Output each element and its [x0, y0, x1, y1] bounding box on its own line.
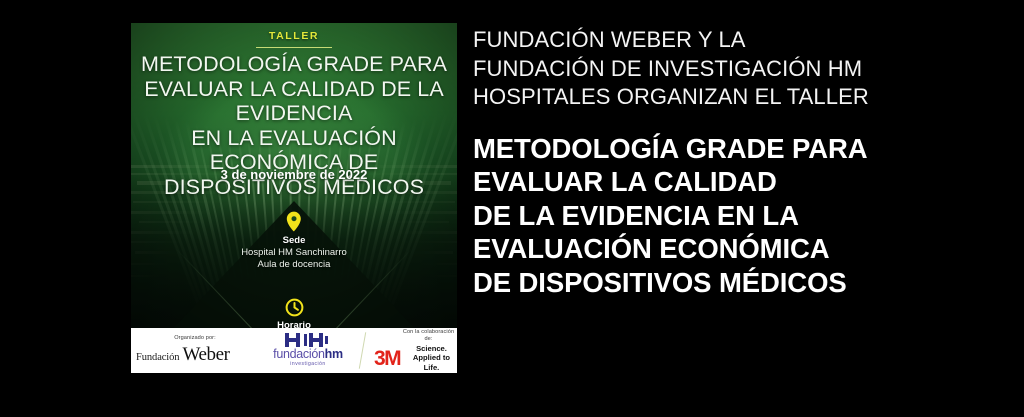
- collaborator-logo-group: Con la colaboración de: 3M Science. Appl…: [362, 328, 457, 373]
- 3m-logo: 3M Science. Applied to Life.: [374, 344, 457, 373]
- fundacion-hm-logo: fundaciónhm investigación: [254, 328, 362, 373]
- 3m-tagline-line-2: Applied to Life.: [406, 353, 457, 372]
- event-poster-image: TALLER METODOLOGÍA GRADE PARA EVALUAR LA…: [131, 23, 457, 373]
- poster-kicker-rule: [256, 47, 332, 49]
- hm-monogram-icon: [285, 333, 331, 347]
- article-text-column: FUNDACIÓN WEBER Y LA FUNDACIÓN DE INVEST…: [473, 26, 1003, 299]
- 3m-tagline-line-1: Science.: [406, 344, 457, 354]
- organizer-caption: Organizado por:: [136, 335, 254, 342]
- weber-prefix-text: Fundación: [136, 352, 179, 363]
- fundacion-weber-logo: Fundación Weber: [136, 344, 254, 366]
- clock-icon: [285, 298, 304, 317]
- 3m-mark-text: 3M: [374, 348, 400, 369]
- page-root: TALLER METODOLOGÍA GRADE PARA EVALUAR LA…: [0, 0, 1024, 417]
- hm-mark-icon: [285, 333, 331, 347]
- venue-line-1: Hospital HM Sanchinarro: [131, 247, 457, 259]
- hm-subtitle: investigación: [290, 361, 325, 368]
- map-pin-icon: [286, 211, 302, 232]
- organizer-logo-group: Organizado por: Fundación Weber: [131, 328, 254, 373]
- 3m-tagline: Science. Applied to Life.: [406, 344, 457, 373]
- hm-word-light: fundación: [273, 347, 325, 361]
- poster-venue-block: Sede Hospital HM Sanchinarro Aula de doc…: [131, 211, 457, 270]
- poster-content: TALLER METODOLOGÍA GRADE PARA EVALUAR LA…: [131, 23, 457, 373]
- poster-logo-bar: Organizado por: Fundación Weber: [131, 328, 457, 373]
- hm-word-bold: hm: [325, 347, 343, 361]
- article-headline: METODOLOGÍA GRADE PARA EVALUAR LA CALIDA…: [473, 132, 1003, 300]
- weber-name-text: Weber: [182, 344, 229, 366]
- venue-line-2: Aula de docencia: [131, 259, 457, 271]
- poster-kicker-label: TALLER: [131, 30, 457, 42]
- collaborator-caption: Con la colaboración de:: [400, 329, 457, 343]
- venue-heading: Sede: [131, 235, 457, 247]
- article-lead: FUNDACIÓN WEBER Y LA FUNDACIÓN DE INVEST…: [473, 26, 1003, 112]
- hm-wordmark: fundaciónhm: [273, 348, 343, 361]
- poster-date: 3 de noviembre de 2022: [131, 167, 457, 182]
